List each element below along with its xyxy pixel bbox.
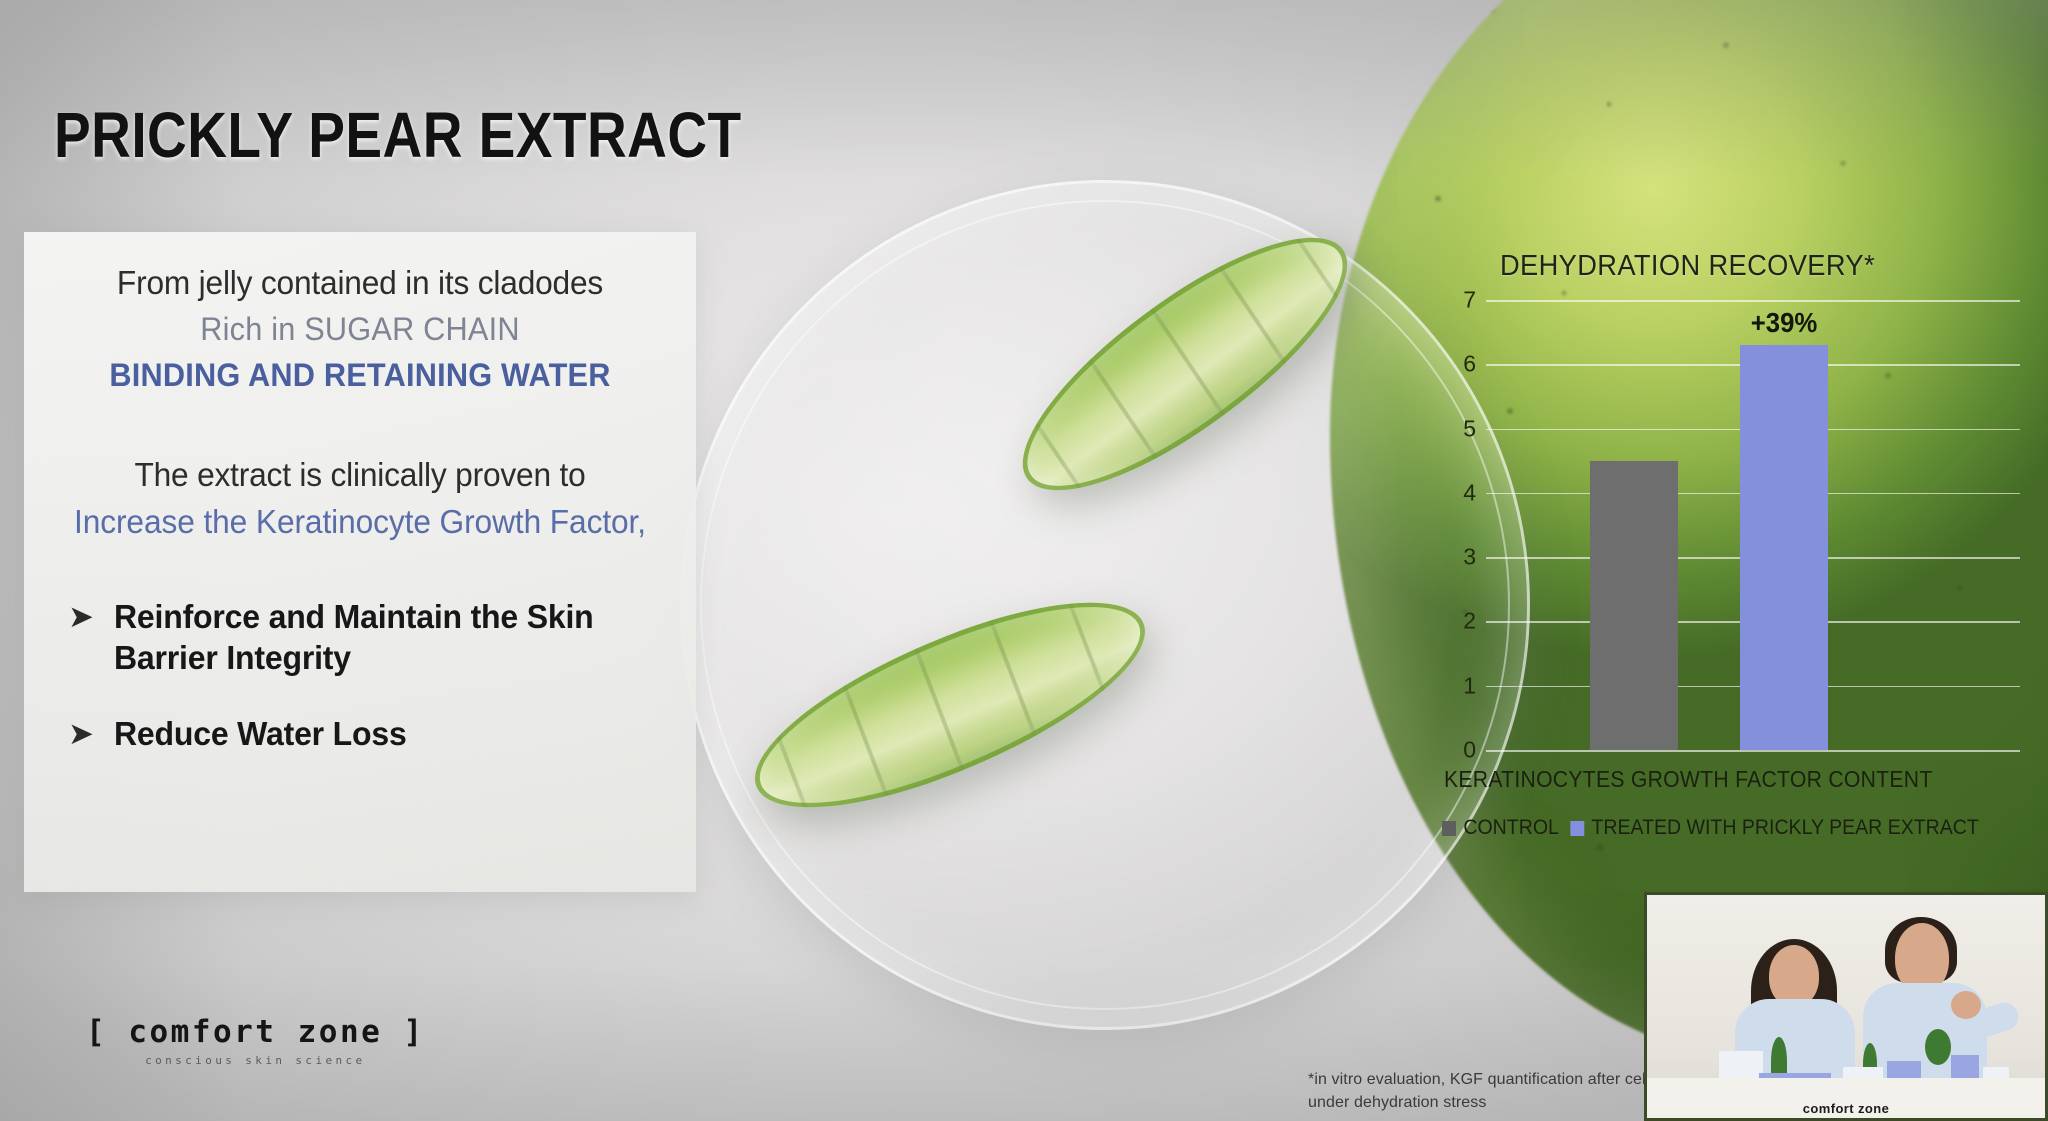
chart-legend: CONTROLTREATED WITH PRICKLY PEAR EXTRACT [1442,816,1979,840]
card-line-3: BINDING AND RETAINING WATER [62,357,657,394]
chart-y-tick-label: 1 [1446,672,1476,699]
chart-plot-area: 76543210+39% [1440,300,1980,750]
list-item-label: Reinforce and Maintain the Skin Barrier … [114,597,653,678]
chart-bar [1740,345,1828,750]
webcam-pip[interactable]: comfort zone [1644,892,2048,1121]
hand [1951,991,1981,1019]
legend-swatch [1570,821,1584,836]
card-line-2: Rich in SUGAR CHAIN [62,311,657,348]
chart-y-tick-label: 0 [1446,737,1476,764]
legend-label: CONTROL [1463,816,1558,840]
page-title: PRICKLY PEAR EXTRACT [54,98,742,172]
chart-bar [1590,461,1678,750]
chart-y-tick-label: 6 [1446,351,1476,378]
pip-caption: comfort zone [1647,1101,2045,1116]
plant-decor [1925,1029,1951,1065]
legend-label: TREATED WITH PRICKLY PEAR EXTRACT [1591,816,1978,840]
card-line-1: From jelly contained in its cladodes [62,264,657,302]
slide-stage: PRICKLY PEAR EXTRACT From jelly containe… [0,0,2048,1121]
chart-legend-item: TREATED WITH PRICKLY PEAR EXTRACT [1570,816,1979,840]
dehydration-recovery-chart: DEHYDRATION RECOVERY* 76543210+39% KERAT… [1420,250,1980,850]
chart-x-axis-label: KERATINOCYTES GROWTH FACTOR CONTENT [1444,766,1959,793]
card-line-4: The extract is clinically proven to [62,456,657,494]
chart-gridline [1486,300,2020,302]
chart-y-tick-label: 5 [1446,415,1476,442]
chart-y-tick-label: 4 [1446,479,1476,506]
arrow-bullet-icon: ➤ [68,597,94,637]
list-item-label: Reduce Water Loss [114,714,407,755]
card-line-5: Increase the Keratinocyte Growth Factor, [62,503,657,541]
brand-logo: [ comfort zone ] conscious skin science [86,1014,425,1067]
chart-bar-annotation: +39% [1738,307,1830,339]
brand-name: [ comfort zone ] [86,1014,425,1050]
list-item: ➤ Reinforce and Maintain the Skin Barrie… [50,597,670,678]
brand-tagline: conscious skin science [86,1054,425,1067]
chart-gridline [1486,750,2020,752]
head [1769,945,1819,1007]
list-item: ➤ Reduce Water Loss [50,714,670,755]
chart-y-tick-label: 3 [1446,544,1476,571]
arrow-bullet-icon: ➤ [68,714,94,754]
chart-title: DEHYDRATION RECOVERY* [1500,250,1875,283]
legend-swatch [1442,821,1456,836]
info-card: From jelly contained in its cladodes Ric… [24,232,696,892]
chart-legend-item: CONTROL [1442,816,1559,840]
chart-y-tick-label: 7 [1446,287,1476,314]
benefit-list: ➤ Reinforce and Maintain the Skin Barrie… [50,597,670,755]
chart-y-tick-label: 2 [1446,608,1476,635]
